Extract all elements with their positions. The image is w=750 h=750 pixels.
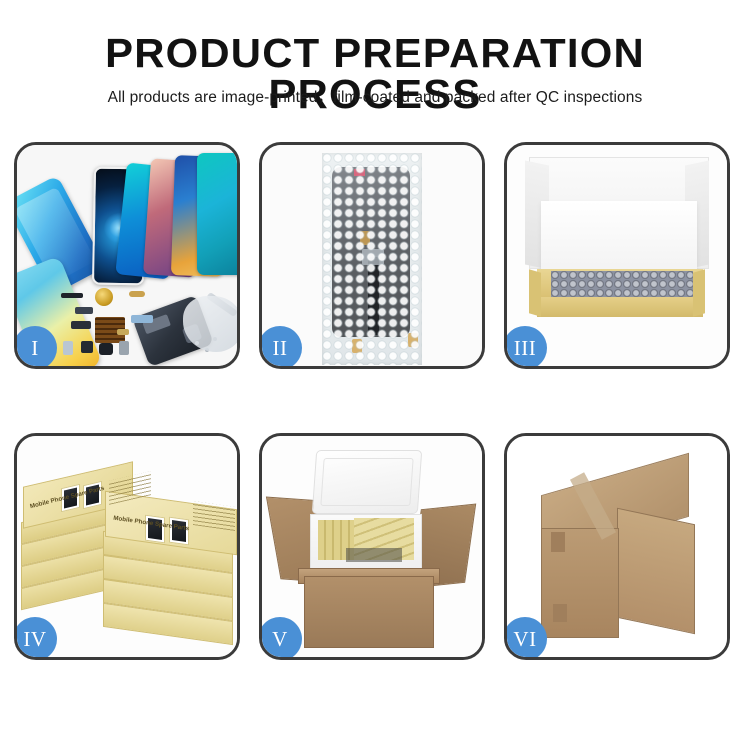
sealed-carton-side-icon bbox=[617, 508, 695, 635]
carton-body-icon bbox=[304, 576, 434, 648]
carton-tab-1-icon bbox=[551, 532, 565, 552]
process-step-5: V bbox=[259, 433, 485, 660]
step-4-badge: IV bbox=[14, 617, 57, 660]
speaker-icon bbox=[99, 343, 113, 355]
step-1-badge: I bbox=[14, 326, 57, 369]
process-step-3: III bbox=[504, 142, 730, 369]
kraft-tray-front-icon bbox=[537, 297, 703, 317]
foam-sheet-icon bbox=[541, 201, 697, 273]
bubble-texture-icon bbox=[322, 153, 422, 365]
process-step-6: VI bbox=[504, 433, 730, 660]
process-step-1: I bbox=[14, 142, 240, 369]
flex-cable-4-icon bbox=[75, 307, 93, 314]
gold-connector-icon bbox=[129, 291, 145, 297]
kraft-tray-left-flap-icon bbox=[529, 269, 541, 316]
foam-cooler-lid-icon bbox=[312, 450, 422, 514]
page-subtitle: All products are image-printed，film-coat… bbox=[0, 85, 750, 107]
flex-cable-1-icon bbox=[61, 293, 83, 298]
step-2-badge: II bbox=[259, 326, 302, 369]
step-3-badge: III bbox=[504, 326, 547, 369]
step-5-badge: V bbox=[259, 617, 302, 660]
vibration-motor-icon bbox=[95, 288, 113, 306]
process-step-4: Mobile Phone Spare Parts Mobile Phone Sp… bbox=[14, 433, 240, 660]
step-6-badge: VI bbox=[504, 617, 547, 660]
kraft-tray-right-flap-icon bbox=[693, 269, 705, 316]
flex-cable-2-icon bbox=[71, 321, 91, 329]
antenna-part-icon bbox=[117, 329, 129, 335]
camera-module-icon bbox=[81, 341, 93, 353]
product-preparation-infographic: PRODUCT PREPARATION PROCESS All products… bbox=[0, 0, 750, 750]
button-part-icon bbox=[119, 341, 129, 355]
carton-tab-2-icon bbox=[553, 604, 567, 622]
flex-cable-3-icon bbox=[131, 315, 153, 323]
phone-fan-4-icon bbox=[197, 153, 237, 275]
process-step-2: II bbox=[259, 142, 485, 369]
box-gap-shadow-icon bbox=[346, 548, 402, 562]
bubble-wrap-bag-icon bbox=[322, 153, 422, 365]
process-step-grid: I II bbox=[14, 142, 736, 687]
sim-tray-icon bbox=[63, 341, 73, 355]
